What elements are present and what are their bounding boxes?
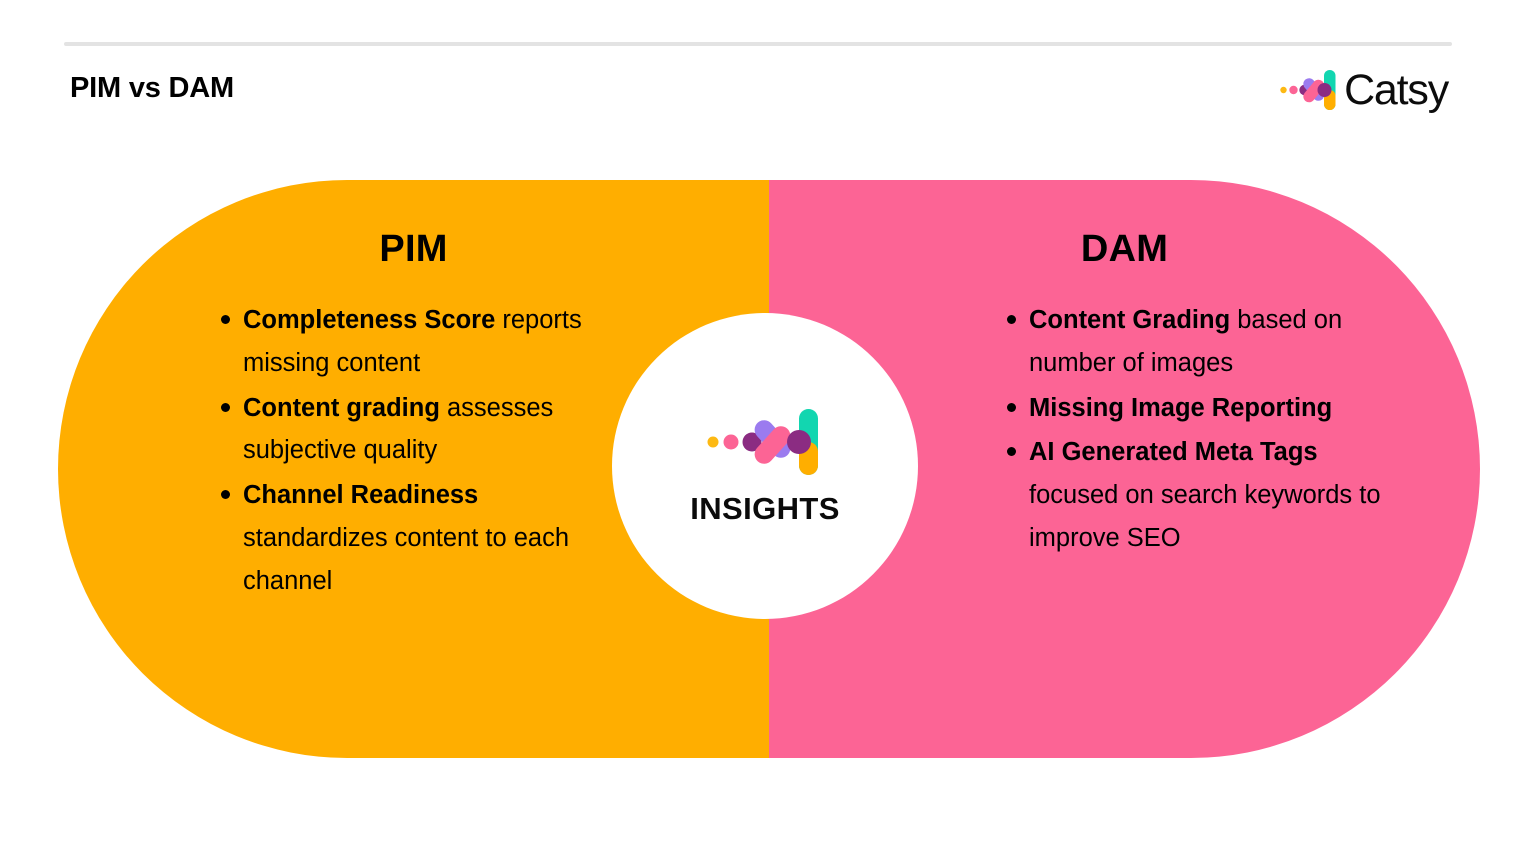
panel-pim-bullet-list: Completeness Score reports missing conte…: [213, 299, 583, 603]
panel-pim-title: PIM: [58, 228, 769, 271]
brand-wordmark: Catsy: [1344, 69, 1448, 112]
catsy-logo-mark-icon: [1280, 67, 1336, 113]
brand-lockup: Catsy: [1280, 62, 1448, 118]
bullet-detail: standardizes content to each channel: [243, 524, 569, 595]
list-item: Content grading assesses subjective qual…: [213, 387, 583, 473]
list-item: Missing Image Reporting: [999, 387, 1399, 430]
panel-dam-bullet-list: Content Grading based on number of image…: [999, 299, 1399, 560]
page-title: PIM vs DAM: [70, 72, 234, 105]
insights-badge: INSIGHTS: [612, 313, 918, 619]
panel-pim-bullets-wrap: Completeness Score reports missing conte…: [213, 299, 583, 603]
bullet-term: Completeness Score: [243, 306, 495, 334]
bullet-detail: focused on search keywords to improve SE…: [1029, 481, 1381, 552]
insights-label: INSIGHTS: [690, 491, 840, 527]
bullet-term: Content grading: [243, 394, 440, 422]
list-item: AI Generated Meta Tags focused on search…: [999, 431, 1399, 559]
bullet-term: Channel Readiness: [243, 481, 478, 509]
bullet-term: Content Grading: [1029, 306, 1230, 334]
bullet-term: AI Generated Meta Tags: [1029, 438, 1318, 466]
panel-dam-title: DAM: [769, 228, 1480, 271]
panel-dam-bullets-wrap: Content Grading based on number of image…: [999, 299, 1399, 560]
bullet-term: Missing Image Reporting: [1029, 394, 1332, 422]
list-item: Channel Readiness standardizes content t…: [213, 474, 583, 602]
list-item: Completeness Score reports missing conte…: [213, 299, 583, 385]
list-item: Content Grading based on number of image…: [999, 299, 1399, 385]
header-divider: [64, 42, 1452, 46]
catsy-logo-mark-icon: [706, 405, 824, 479]
